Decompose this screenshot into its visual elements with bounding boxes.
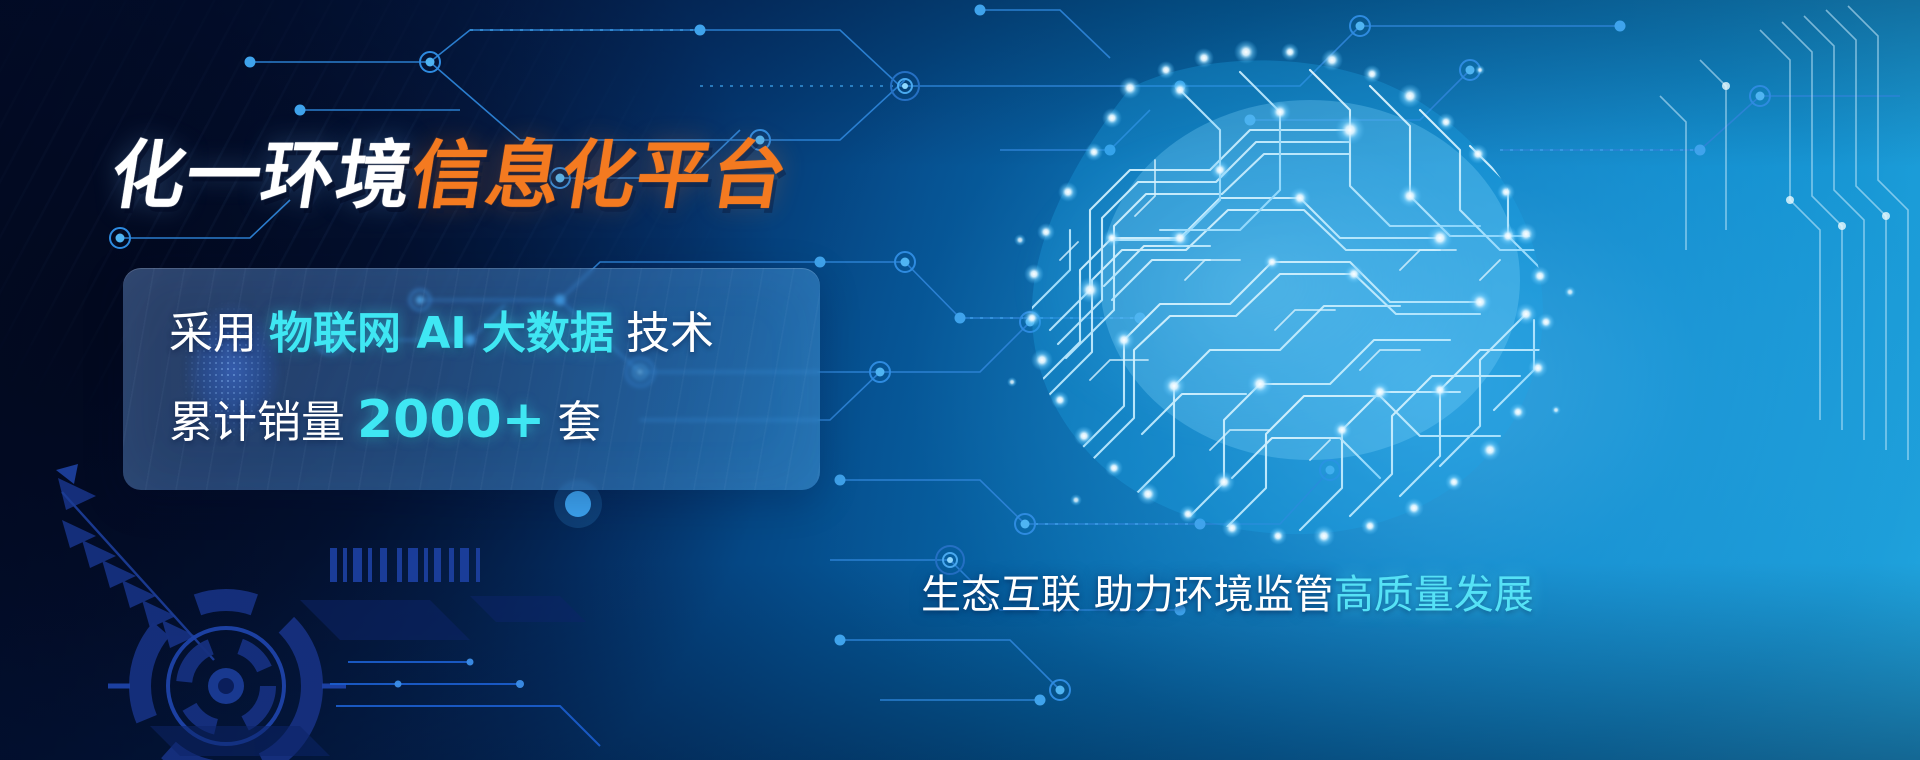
feature-card: 采用物联网 AI 大数据技术 累计销量2000+套 [123,268,820,490]
banner-title: 化一环境信息化平台 [112,139,787,213]
tagline-cyan-part: 高质量发展 [1334,572,1534,618]
feature-line-1-prefix: 采用 [169,308,257,359]
feature-line-1-suffix: 技术 [626,308,714,359]
feature-line-2-highlight: 2000+ [357,390,545,450]
banner-root: 化一环境信息化平台 采用物联网 AI 大数据技术 累计销量2000+套 生态互联… [0,0,1920,760]
tagline-white-part: 生态互联 助力环境监管 [921,572,1334,618]
feature-line-1: 采用物联网 AI 大数据技术 [169,312,820,356]
title-orange-part: 信息化平台 [405,133,794,219]
feature-line-2-suffix: 套 [557,397,601,448]
banner-tagline: 生态互联 助力环境监管高质量发展 [921,575,1534,615]
feature-line-1-highlight: 物联网 AI 大数据 [269,308,614,359]
feature-line-2: 累计销量2000+套 [169,394,820,446]
feature-line-2-prefix: 累计销量 [169,397,345,448]
title-white-part: 化一环境 [105,133,419,219]
circuit-brain-icon [880,30,1600,550]
